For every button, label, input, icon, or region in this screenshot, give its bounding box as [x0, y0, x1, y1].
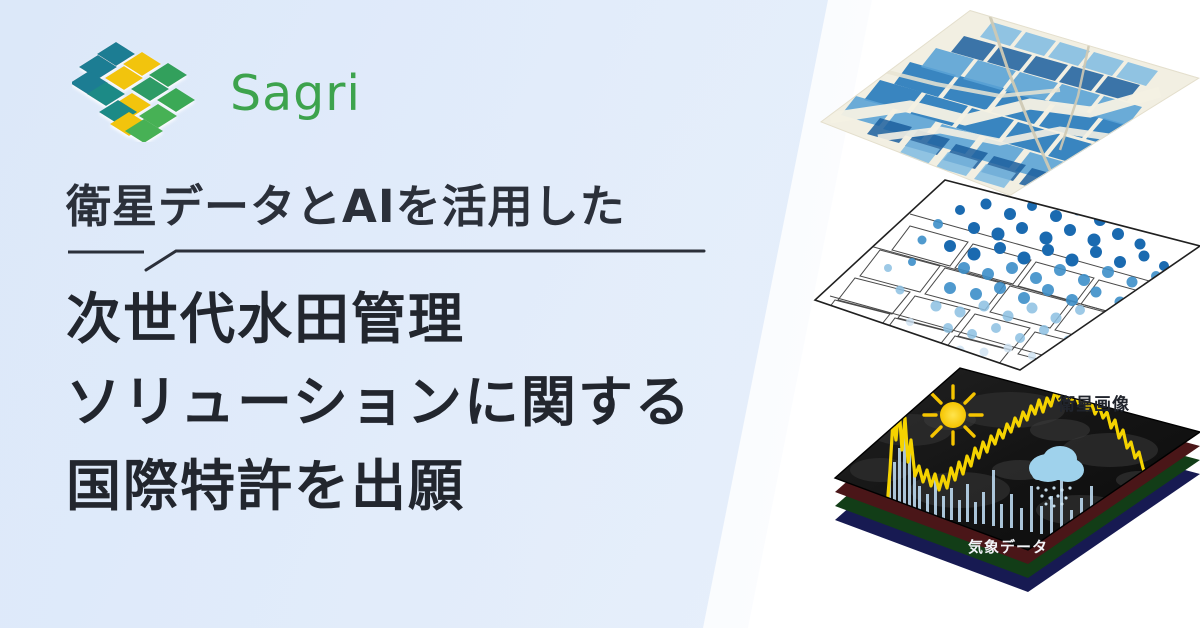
layers-svg: [760, 0, 1200, 628]
slash-rule-divider: [66, 242, 706, 272]
headline-line-2: ソリューションに関する: [66, 361, 726, 445]
brand-logo[interactable]: Sagri: [72, 38, 361, 142]
headline-line-1: 次世代水田管理: [66, 278, 726, 362]
isometric-parcel-map: [820, 10, 1200, 204]
headline-line-3: 国際特許を出願: [66, 445, 726, 529]
layer-label-weather-data: 気象データ: [968, 536, 1048, 557]
copy-block: 衛星データとAIを活用した 次世代水田管理 ソリューションに関する 国際特許を出…: [66, 182, 726, 528]
sagri-diamond-grid-logo: [72, 38, 214, 142]
sun-icon: [924, 386, 982, 444]
layer-label-satellite-image: 衛星画像: [1058, 390, 1130, 415]
diamond-grid-svg: [72, 38, 214, 142]
brand-wordmark: Sagri: [230, 69, 361, 118]
stacked-data-layers-diagram: [760, 0, 1200, 628]
poster-canvas: Sagri 衛星データとAIを活用した 次世代水田管理 ソリューションに関する …: [0, 0, 1200, 628]
headline: 次世代水田管理 ソリューションに関する 国際特許を出願: [66, 278, 726, 529]
scatter-point-cloud-map: [815, 180, 1200, 370]
divider-svg: [66, 242, 706, 272]
subtitle: 衛星データとAIを活用した: [66, 182, 726, 232]
